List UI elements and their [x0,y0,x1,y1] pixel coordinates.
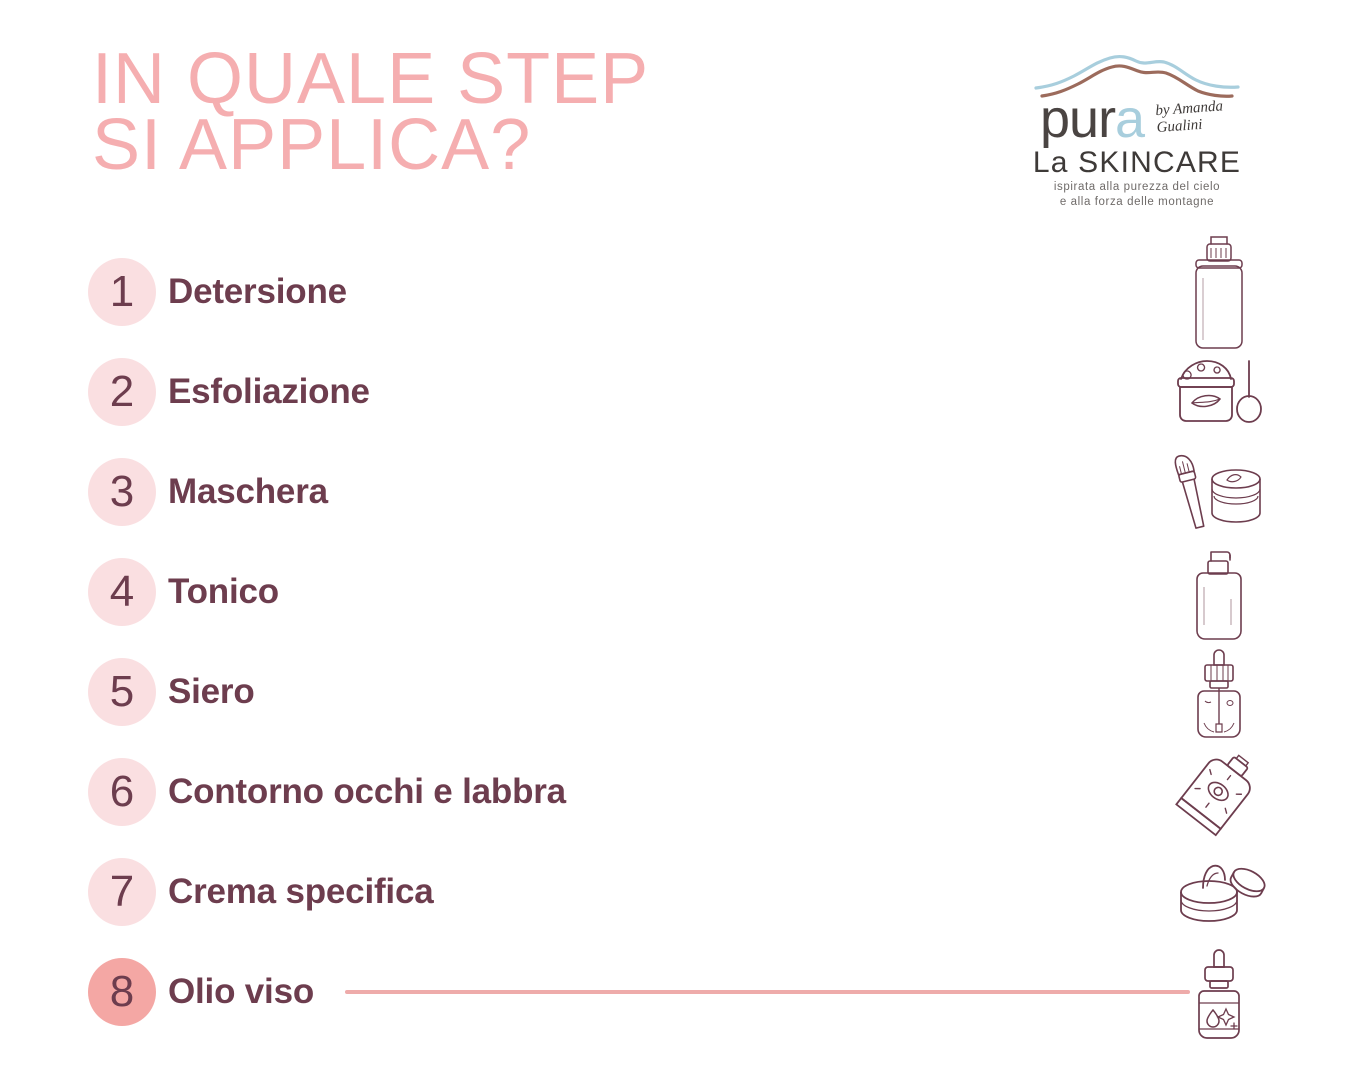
serum-dropper-icon [1160,646,1278,738]
step-label: Maschera [168,458,328,526]
step-number: 2 [110,370,134,414]
step-row[interactable]: 1 Detersione [0,242,1350,342]
step-number-badge: 3 [88,458,156,526]
step-number-badge: 7 [88,858,156,926]
step-number-badge: 5 [88,658,156,726]
step-row[interactable]: 7 Crema specifica [0,842,1350,942]
step-number-badge: 8 [88,958,156,1026]
step-row[interactable]: 3 Maschera [0,442,1350,542]
step-number: 8 [110,970,134,1014]
step-label: Olio viso [168,958,314,1026]
step-row[interactable]: 2 Esfoliazione [0,342,1350,442]
brand-logo: pura by Amanda Gualini La SKINCARE ispir… [1032,52,1242,197]
step-row[interactable]: 6 Contorno occhi e labbra [0,742,1350,842]
step-number-badge: 2 [88,358,156,426]
step-connector-line [345,990,1190,994]
mask-brush-jar-icon [1160,446,1278,538]
scrub-jar-spatula-icon [1160,346,1278,438]
step-number-badge: 4 [88,558,156,626]
step-number: 1 [110,270,134,314]
face-oil-dropper-icon [1160,946,1278,1038]
step-number: 4 [110,570,134,614]
logo-tagline-line-1: ispirata alla purezza del cielo [1032,180,1242,195]
skincare-steps-list: 1 Detersione 2 Esfoliazione [0,242,1350,1042]
step-number: 6 [110,770,134,814]
page-title-line-2: SI APPLICA? [92,112,792,178]
eye-cream-tube-icon [1160,746,1278,838]
step-number: 7 [110,870,134,914]
step-label: Contorno occhi e labbra [168,758,566,826]
step-number-badge: 6 [88,758,156,826]
step-label: Esfoliazione [168,358,370,426]
logo-wordmark: pura [1040,94,1144,144]
cream-jar-open-icon [1160,846,1278,938]
step-label: Detersione [168,258,347,326]
toner-pump-bottle-icon [1160,546,1278,638]
step-row[interactable]: 5 Siero [0,642,1350,742]
logo-tagline-line-2: e alla forza delle montagne [1032,195,1242,210]
step-label: Siero [168,658,255,726]
cleanser-bottle-icon [1160,246,1278,338]
page-title-line-1: IN QUALE STEP [92,46,792,112]
step-label: Tonico [168,558,279,626]
step-label: Crema specifica [168,858,433,926]
step-row[interactable]: 8 Olio viso [0,942,1350,1042]
step-number: 5 [110,670,134,714]
step-row[interactable]: 4 Tonico [0,542,1350,642]
page-title: IN QUALE STEP SI APPLICA? [92,46,792,178]
logo-wordmark-a: a [1115,89,1144,149]
logo-wordmark-pur: pur [1040,89,1115,149]
step-number: 3 [110,470,134,514]
step-number-badge: 1 [88,258,156,326]
logo-subtitle: La SKINCARE [1032,146,1242,180]
logo-byline: by Amanda Gualini [1155,97,1245,137]
